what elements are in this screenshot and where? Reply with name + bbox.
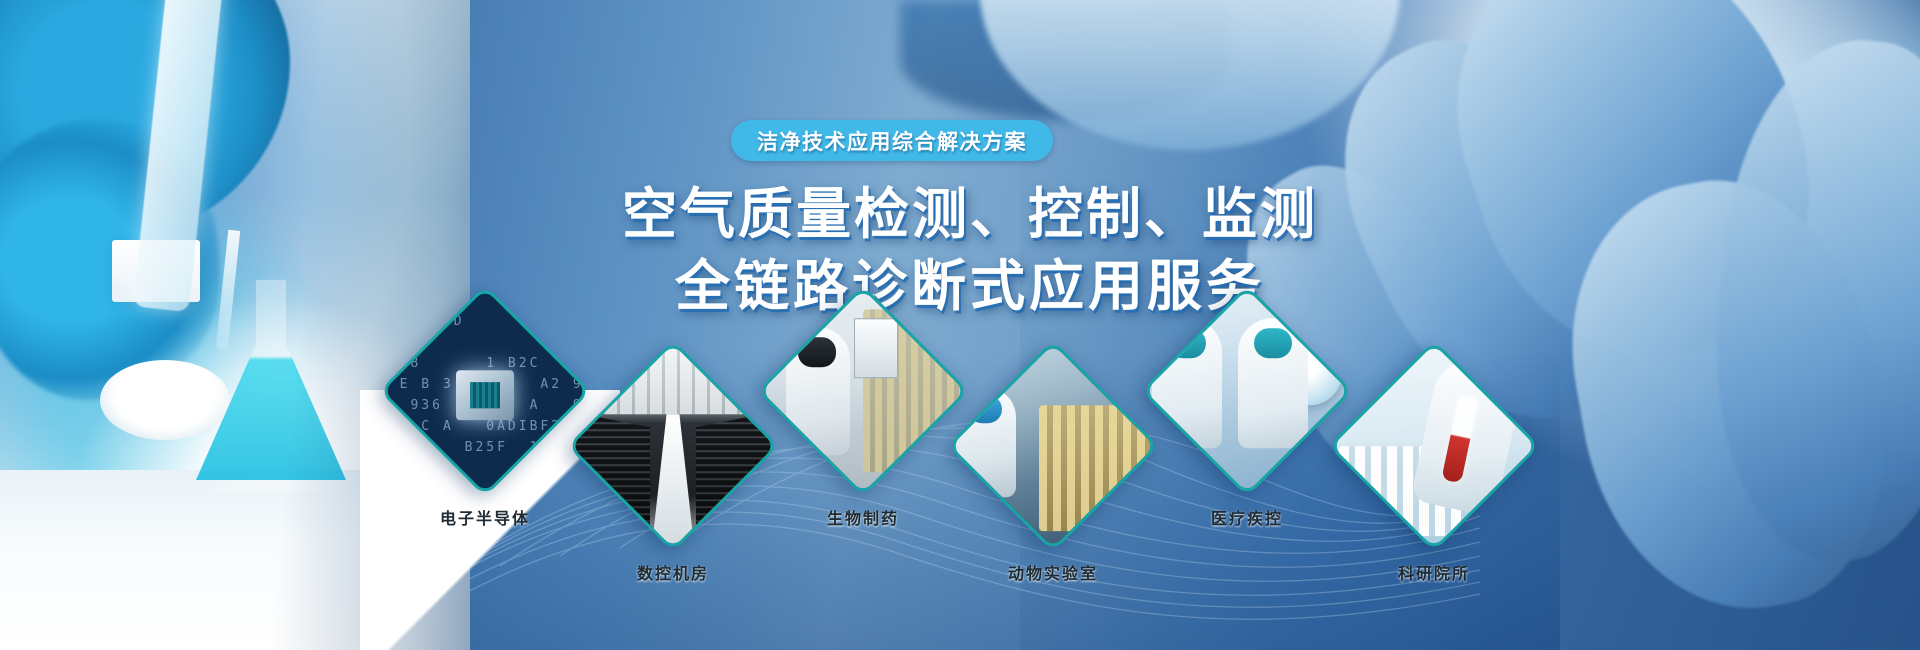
- ceiling-shape: [567, 340, 779, 414]
- card-biopharma[interactable]: [757, 285, 969, 497]
- technician-shape: [954, 387, 1016, 497]
- research-institute-icon: [1328, 340, 1540, 552]
- card-label-medical-cdc: 医疗疾控: [1147, 505, 1347, 529]
- card-label-research-institute: 科研院所: [1334, 560, 1534, 584]
- card-medical-cdc[interactable]: [1141, 285, 1353, 497]
- aisle-floor: [650, 414, 696, 552]
- biopharma-icon: [757, 285, 969, 497]
- hero-banner: 洁净技术应用综合解决方案 空气质量检测、控制、监测 全链路诊断式应用服务 A E…: [0, 0, 1920, 650]
- surgeon-shape-a: [1152, 318, 1222, 448]
- card-label-server-room: 数控机房: [573, 560, 773, 584]
- chip-die-shape: [456, 370, 514, 420]
- animal-lab-icon: [947, 340, 1159, 552]
- medical-cdc-icon: [1141, 285, 1353, 497]
- control-panel-shape: [854, 318, 898, 378]
- card-semiconductor[interactable]: A E2 F D 5926 7 8 1 B2C A 0 E B 3 A2 93 …: [379, 285, 591, 497]
- card-label-animal-lab: 动物实验室: [953, 560, 1153, 584]
- surgeon-shape-b: [1238, 318, 1308, 448]
- bottle-row-shape: [1039, 405, 1157, 532]
- industry-card-list: A E2 F D 5926 7 8 1 B2C A 0 E B 3 A2 93 …: [0, 0, 1920, 650]
- server-room-icon: [567, 340, 779, 552]
- semiconductor-chip-icon: A E2 F D 5926 7 8 1 B2C A 0 E B 3 A2 93 …: [379, 285, 591, 497]
- card-research-institute[interactable]: [1328, 340, 1540, 552]
- card-server-room[interactable]: [567, 340, 779, 552]
- card-label-semiconductor: 电子半导体: [385, 505, 585, 529]
- cleanroom-suit-shape: [786, 327, 850, 455]
- card-label-biopharma: 生物制药: [763, 505, 963, 529]
- card-animal-lab[interactable]: [947, 340, 1159, 552]
